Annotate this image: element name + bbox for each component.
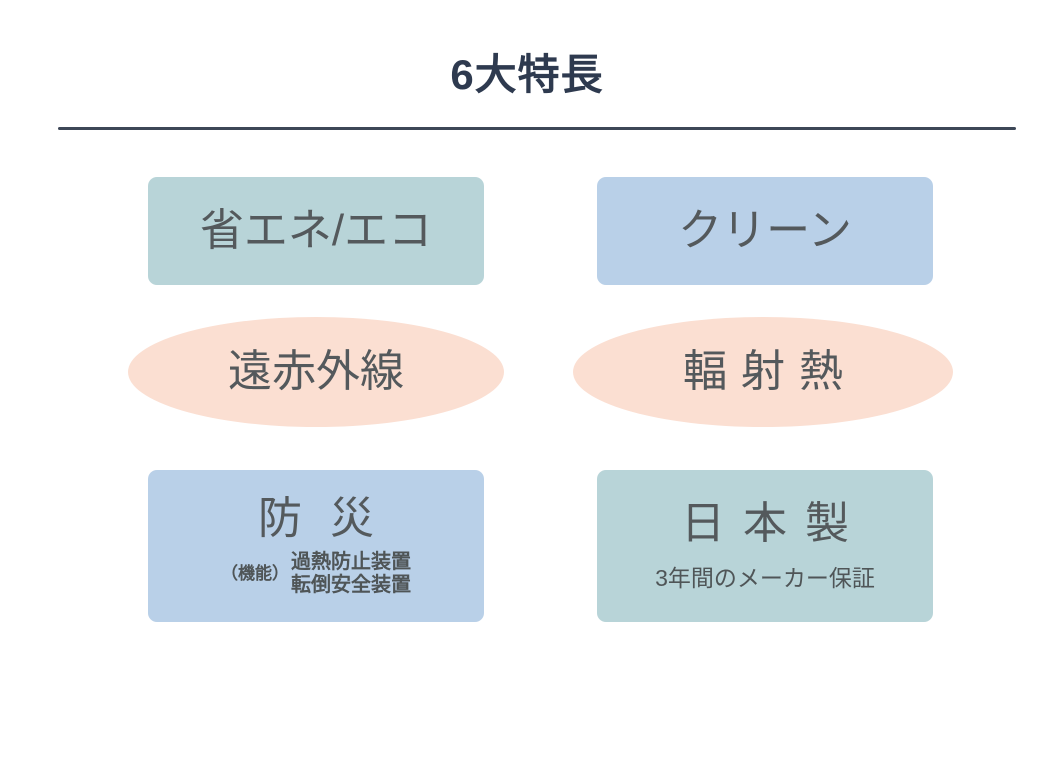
feature-label-clean: クリーン	[678, 206, 852, 257]
feature-card-clean[interactable]: クリーン	[597, 177, 933, 285]
feature-label-energy-saving: 省エネ/エコ	[200, 206, 432, 257]
feature-grid: 省エネ/エコ クリーン 遠赤外線 輻射熱 防災 （機能） 過熱防止装置 転倒安全…	[0, 177, 1054, 637]
feature-label-far-infrared: 遠赤外線	[228, 347, 404, 398]
feature-card-disaster-prevention[interactable]: 防災 （機能） 過熱防止装置 転倒安全装置	[148, 470, 484, 622]
slide-root: 6大特長 省エネ/エコ クリーン 遠赤外線 輻射熱 防災 （機能） 過熱防止装置…	[0, 0, 1054, 758]
feature-subcaption-disaster-prevention: （機能） 過熱防止装置 転倒安全装置	[221, 551, 411, 598]
feature-card-energy-saving[interactable]: 省エネ/エコ	[148, 177, 484, 285]
title-divider-rule	[58, 127, 1016, 130]
page-title: 6大特長	[0, 52, 1054, 98]
subcaption-line-group: 過熱防止装置 転倒安全装置	[291, 551, 411, 598]
subcaption-line-tipover-safety: 転倒安全装置	[291, 574, 411, 598]
feature-subcaption-warranty: 3年間のメーカー保証	[655, 559, 875, 593]
feature-label-radiant-heat: 輻射熱	[669, 347, 857, 398]
subcaption-line-overheat-protection: 過熱防止装置	[291, 551, 411, 575]
subcaption-tag-function: （機能）	[221, 565, 289, 584]
feature-label-disaster-prevention: 防災	[230, 494, 402, 545]
feature-card-made-in-japan[interactable]: 日本製 3年間のメーカー保証	[597, 470, 933, 622]
feature-card-far-infrared[interactable]: 遠赤外線	[128, 317, 504, 427]
feature-card-radiant-heat[interactable]: 輻射熱	[573, 317, 953, 427]
feature-label-made-in-japan: 日本製	[663, 499, 867, 550]
